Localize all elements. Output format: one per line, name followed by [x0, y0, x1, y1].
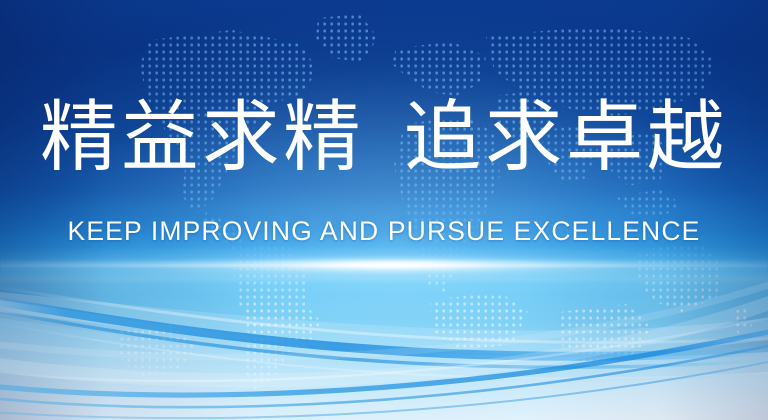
light-streak-core — [0, 252, 768, 278]
subtitle-text: KEEP IMPROVING AND PURSUE EXCELLENCE — [0, 216, 768, 246]
slogan-banner: 精益求精 追求卓越 KEEP IMPROVING AND PURSUE EXCE… — [0, 0, 768, 420]
ribbon-curves — [0, 0, 768, 420]
